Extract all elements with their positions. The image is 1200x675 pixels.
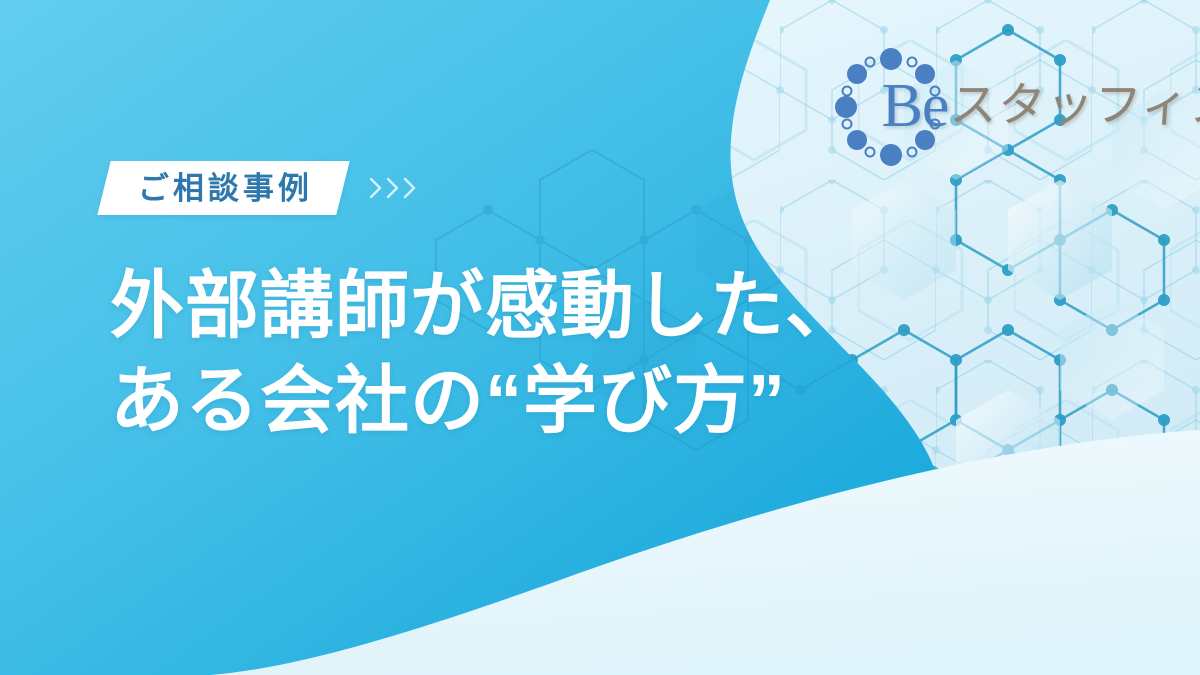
headline: 外部講師が感動した、 ある会社の“学び方” [110, 258, 870, 448]
category-badge: ご相談事例 [97, 161, 349, 215]
brand-logo: Be スタッフィング [832, 48, 1162, 166]
chevron-right-icon [369, 176, 417, 200]
headline-line-1: 外部講師が感動した、 [110, 258, 870, 353]
promotional-banner: Be スタッフィング ご相談事例 外部講師が感動した、 ある会社の“学び方” [0, 0, 1200, 675]
headline-line-2: ある会社の“学び方” [110, 353, 870, 448]
logo-kana-text: スタッフィング [948, 78, 1200, 134]
category-badge-label: ご相談事例 [138, 173, 313, 204]
category-badge-row: ご相談事例 [104, 160, 417, 216]
